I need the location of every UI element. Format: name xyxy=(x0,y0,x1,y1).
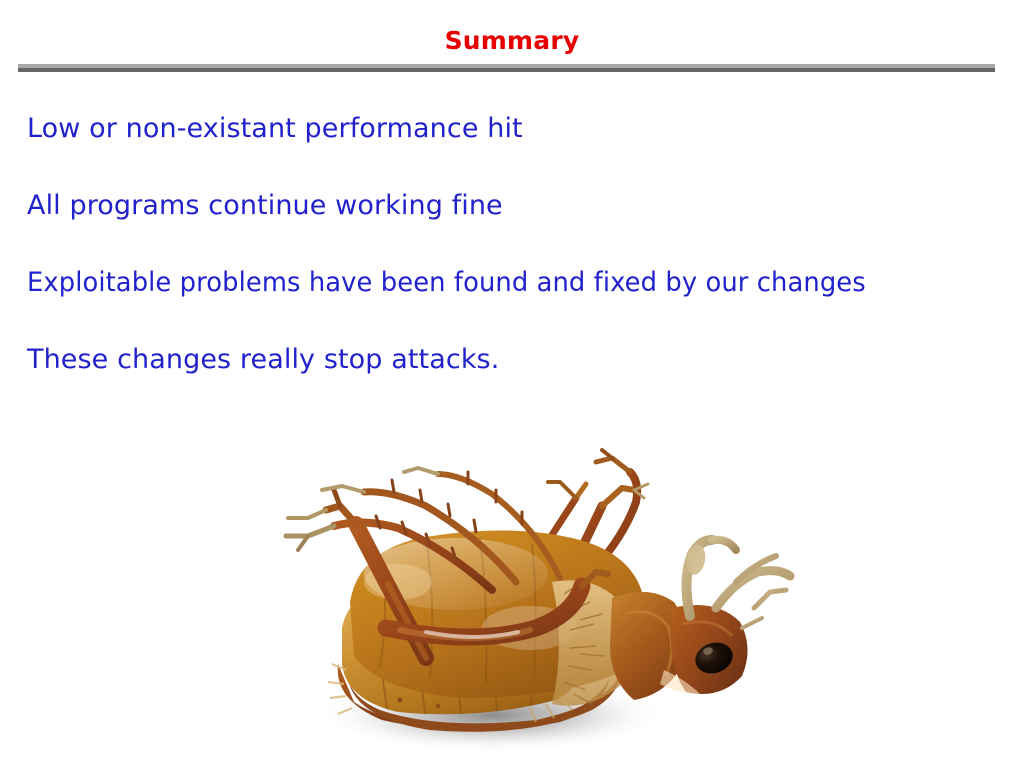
page-title: Summary xyxy=(0,26,1024,56)
body-line-2: All programs continue working fine xyxy=(27,189,997,223)
body-line-4: These changes really stop attacks. xyxy=(27,343,997,377)
title-divider xyxy=(18,64,995,72)
slide-canvas: Summary Low or non-existant performance … xyxy=(0,0,1024,768)
body-line-3: Exploitable problems have been found and… xyxy=(27,266,953,300)
beetle-illustration xyxy=(230,432,810,762)
beetle-photo xyxy=(230,432,810,762)
body-line-1: Low or non-existant performance hit xyxy=(27,112,997,146)
body-text-block: Low or non-existant performance hit All … xyxy=(27,112,997,420)
divider-band-bottom xyxy=(18,68,995,72)
